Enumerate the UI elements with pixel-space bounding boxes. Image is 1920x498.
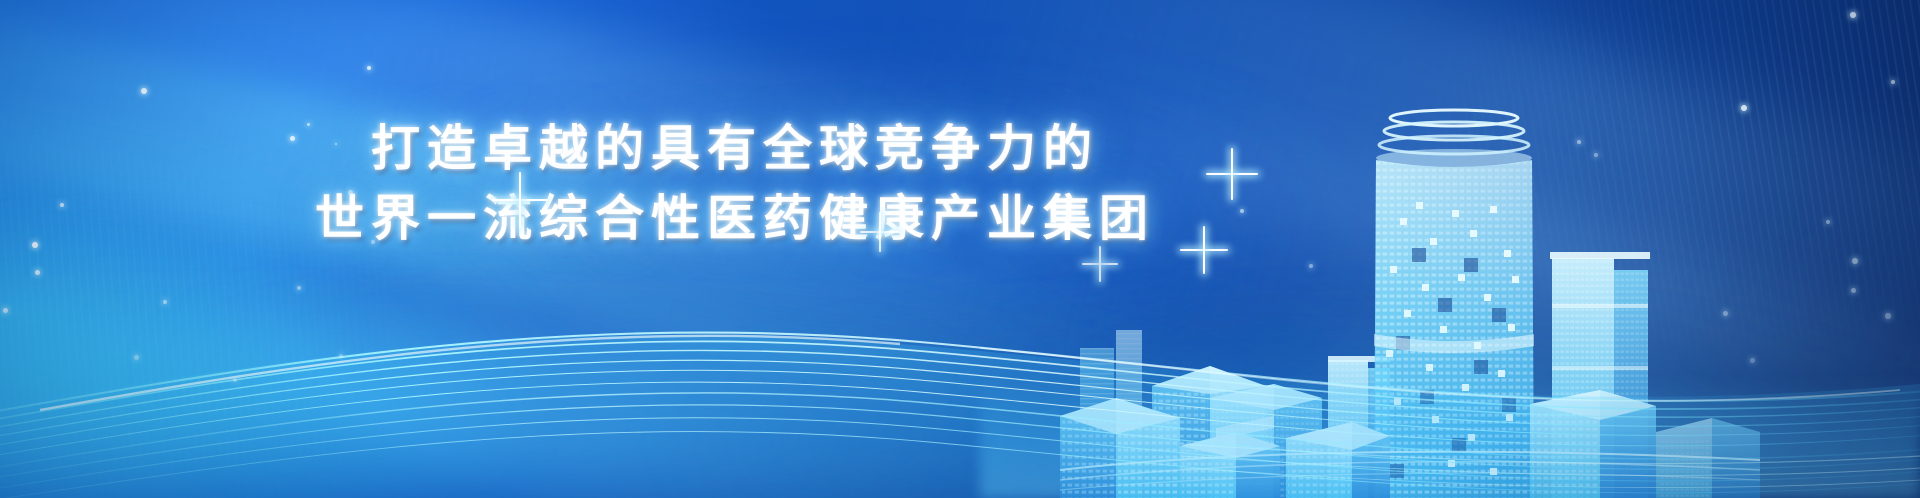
particle bbox=[290, 136, 295, 141]
particle bbox=[141, 88, 147, 94]
particle bbox=[3, 308, 8, 313]
headline-line-1: 打造卓越的具有全球竞争力的 bbox=[0, 122, 1470, 176]
haze-left-cyan bbox=[0, 250, 560, 498]
particle bbox=[35, 270, 40, 275]
headline: 打造卓越的具有全球竞争力的 世界一流综合性医药健康产业集团 bbox=[0, 122, 1470, 246]
particle bbox=[1577, 140, 1581, 144]
particle bbox=[297, 286, 301, 290]
particle bbox=[1723, 311, 1728, 316]
light-band-1 bbox=[0, 0, 1294, 394]
headline-line-2: 世界一流综合性医药健康产业集团 bbox=[0, 192, 1470, 246]
particle bbox=[134, 355, 139, 360]
light-band-4 bbox=[864, 0, 1920, 473]
particle bbox=[60, 203, 64, 207]
city-skyline bbox=[1060, 98, 1760, 498]
light-band-3 bbox=[0, 63, 1173, 498]
particle bbox=[1891, 80, 1895, 84]
wave-glow-left bbox=[0, 298, 1440, 498]
particle bbox=[1240, 209, 1244, 213]
light-band-2 bbox=[0, 0, 1167, 446]
sparkle-icon-2 bbox=[1206, 148, 1258, 200]
particle bbox=[348, 190, 353, 195]
particle bbox=[1741, 105, 1747, 111]
hatched-fan-texture-right bbox=[1345, 0, 1920, 488]
haze-midleft bbox=[120, 290, 1120, 480]
flowing-light-waves bbox=[0, 208, 1920, 498]
vignette bbox=[0, 0, 1920, 498]
particle bbox=[335, 143, 337, 145]
haze-center bbox=[430, 120, 1330, 350]
particle bbox=[1885, 313, 1891, 319]
particle bbox=[1850, 12, 1856, 18]
hero-banner: 打造卓越的具有全球竞争力的 世界一流综合性医药健康产业集团 bbox=[0, 0, 1920, 498]
particle bbox=[1750, 358, 1755, 363]
particle bbox=[163, 300, 167, 304]
wave-glow-right bbox=[700, 328, 1920, 498]
particle bbox=[1852, 258, 1858, 264]
haze-right bbox=[950, 300, 1850, 498]
particle bbox=[371, 240, 375, 244]
particle bbox=[32, 242, 38, 248]
particle bbox=[367, 66, 371, 70]
horizon-sheen bbox=[980, 378, 1920, 498]
particle bbox=[1851, 288, 1856, 293]
hatched-fan-texture-left bbox=[0, 110, 522, 498]
sparkle-icon-3 bbox=[1180, 226, 1228, 274]
particle bbox=[233, 378, 237, 382]
sparkle-icon-5 bbox=[1082, 246, 1118, 282]
sparkle-icon-4 bbox=[860, 212, 900, 252]
light-band-5 bbox=[949, 35, 1920, 498]
particle bbox=[1309, 264, 1313, 268]
particle bbox=[339, 354, 343, 358]
particle bbox=[307, 123, 310, 126]
particle bbox=[1594, 153, 1598, 157]
sparkle-icon-1 bbox=[492, 172, 548, 228]
particle bbox=[1826, 220, 1830, 224]
